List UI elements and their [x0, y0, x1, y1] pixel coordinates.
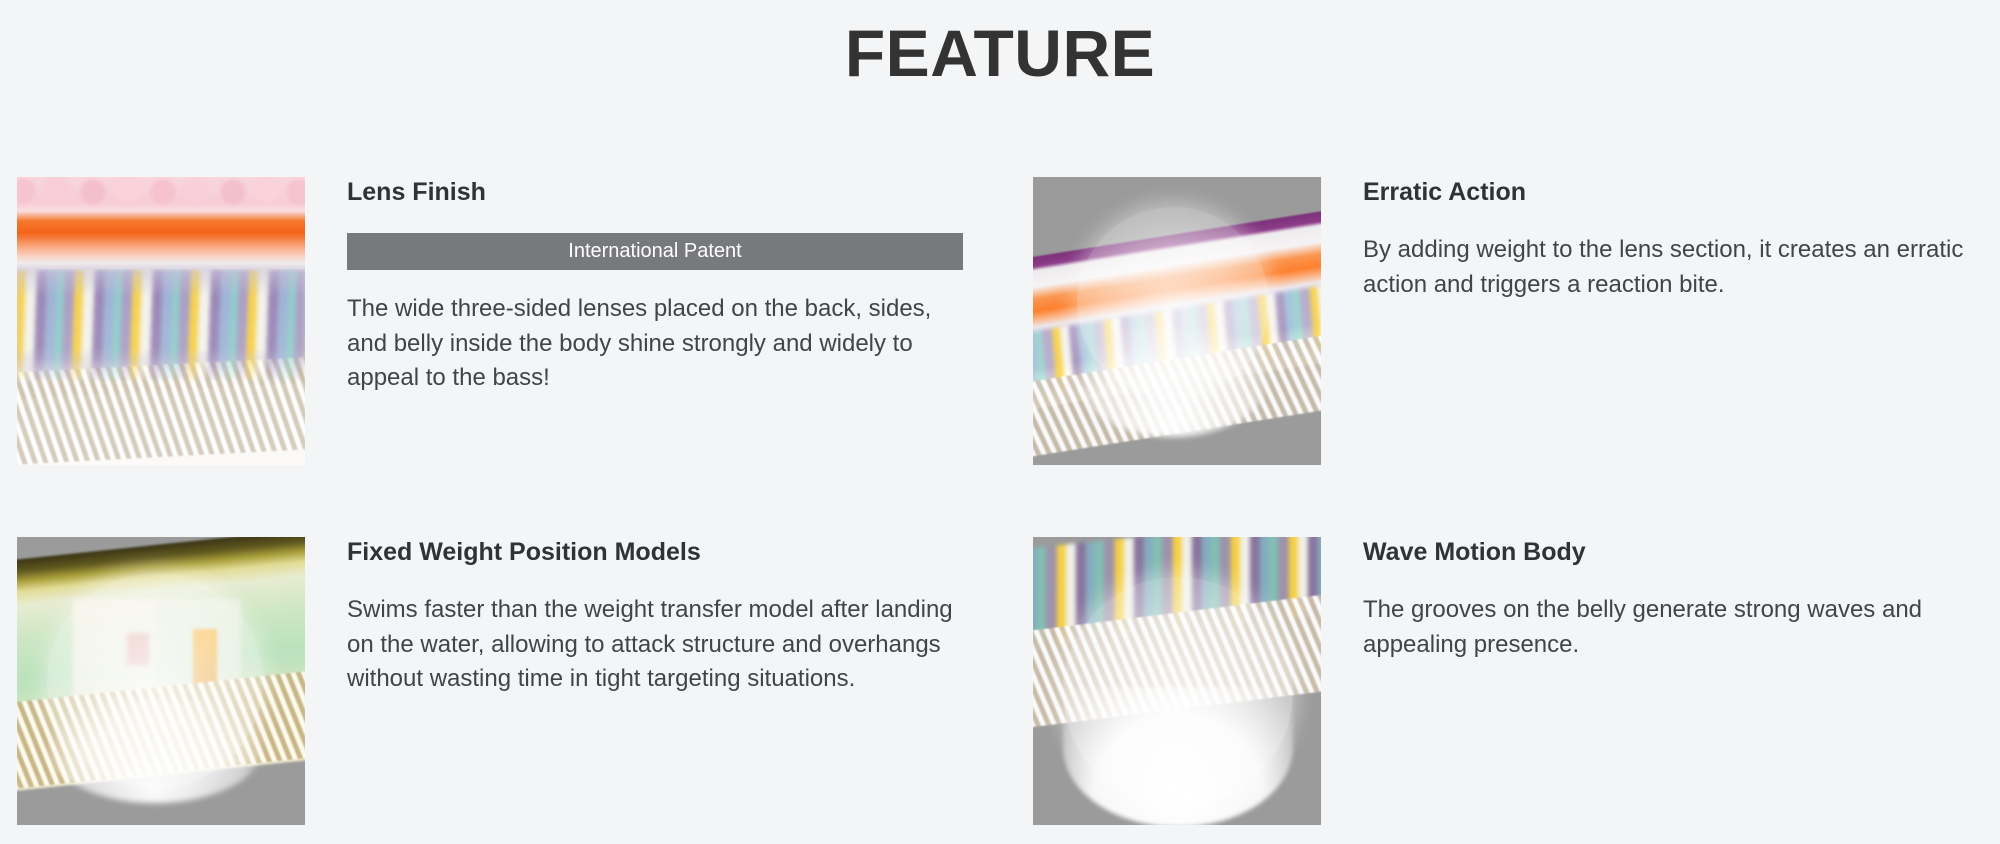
status-badge-international-patent: International Patent [347, 233, 963, 270]
fixed-weight-position-models-image [17, 537, 305, 825]
lens-finish-body: Lens Finish International Patent The wid… [305, 177, 1033, 396]
lure-ribs-decor [17, 357, 305, 465]
feature-card-wave-motion-body: Wave Motion Body The grooves on the bell… [1033, 537, 1983, 837]
page-title: FEATURE [0, 14, 2000, 93]
feature-card-erratic-action: Erratic Action By adding weight to the l… [1033, 177, 1983, 537]
lens-finish-image [17, 177, 305, 465]
erratic-action-image [1033, 177, 1321, 465]
feature-text-erratic-action: By adding weight to the lens section, it… [1363, 233, 1983, 302]
feature-text-wave-motion-body: The grooves on the belly generate strong… [1363, 593, 1983, 662]
erratic-action-body: Erratic Action By adding weight to the l… [1321, 177, 1983, 302]
feature-title-wave-motion-body: Wave Motion Body [1363, 537, 1983, 567]
magnifier-glow-decor [47, 699, 263, 803]
wave-motion-body-image [1033, 537, 1321, 825]
feature-text-fixed-weight-position-models: Swims faster than the weight transfer mo… [347, 593, 967, 697]
magnifier-glow-decor [1063, 687, 1293, 825]
feature-title-erratic-action: Erratic Action [1363, 177, 1983, 207]
feature-text-lens-finish: The wide three-sided lenses placed on th… [347, 292, 967, 396]
feature-title-lens-finish: Lens Finish [347, 177, 1033, 207]
feature-card-lens-finish: Lens Finish International Patent The wid… [17, 177, 1033, 537]
feature-card-fixed-weight-position-models: Fixed Weight Position Models Swims faste… [17, 537, 1033, 837]
wave-motion-body-body: Wave Motion Body The grooves on the bell… [1321, 537, 1983, 662]
feature-title-fixed-weight-position-models: Fixed Weight Position Models [347, 537, 1033, 567]
feature-grid: Lens Finish International Patent The wid… [17, 177, 1983, 837]
fixed-weight-position-models-body: Fixed Weight Position Models Swims faste… [305, 537, 1033, 697]
feature-section-page: FEATURE Lens Finish International Patent… [0, 0, 2000, 844]
